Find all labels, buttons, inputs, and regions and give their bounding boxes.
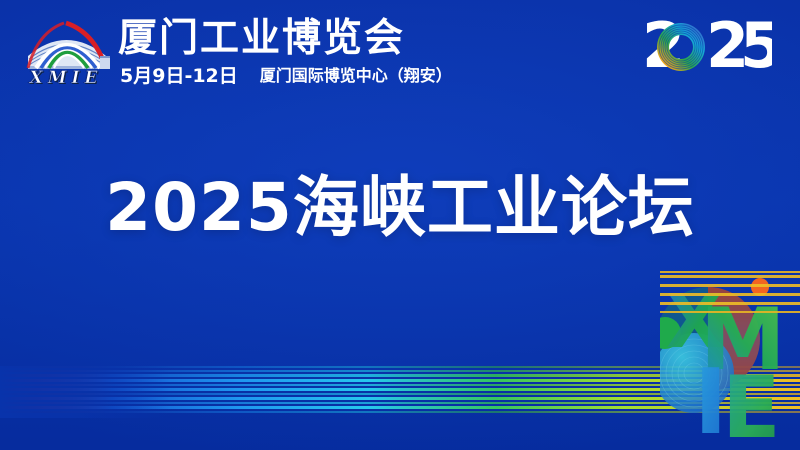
xmie-decoration: X M I E (660, 265, 800, 450)
page-title: 2025海峡工业论坛 (0, 168, 800, 248)
svg-text:5: 5 (740, 16, 772, 78)
fair-date: 5月9日-12日 (120, 61, 238, 88)
poster-canvas: XMIE 厦门工业博览会 5月9日-12日 厦门国际博览中心（翔安） (0, 0, 800, 450)
decor-letter-e: E (722, 358, 781, 450)
xmie-arch-logo-icon: XMIE (14, 16, 118, 92)
stripe-left-fade (0, 366, 170, 418)
fair-venue: 厦门国际博览中心（翔安） (260, 62, 452, 86)
year-badge: 2 2 5 (640, 16, 772, 78)
logo-wordmark: XMIE (16, 68, 116, 88)
fair-name: 厦门工业博览会 (118, 15, 405, 63)
header-band: XMIE 厦门工业博览会 5月9日-12日 厦门国际博览中心（翔安） (0, 0, 800, 104)
fair-subline: 5月9日-12日 厦门国际博览中心（翔安） (120, 62, 452, 86)
